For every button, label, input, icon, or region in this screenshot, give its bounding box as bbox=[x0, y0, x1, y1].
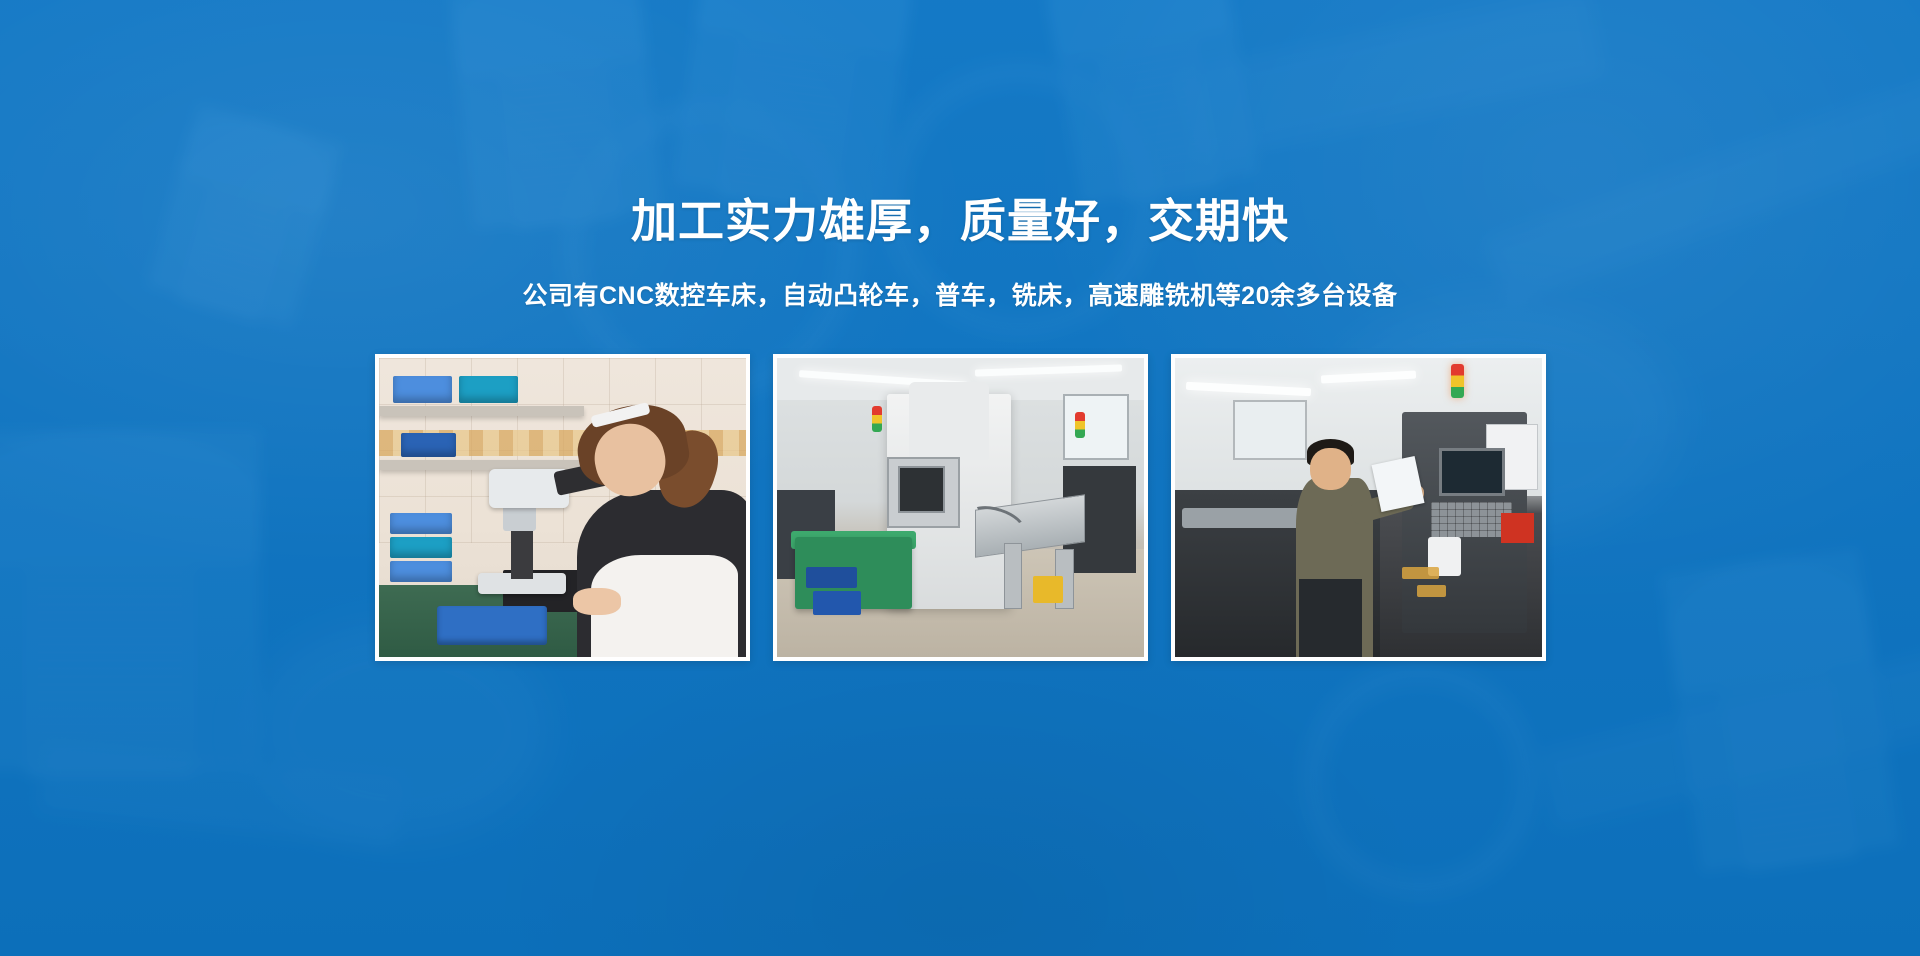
gallery-photo-operator-at-cnc-console[interactable] bbox=[1171, 354, 1546, 661]
photo-scene bbox=[777, 358, 1144, 657]
ghost-shaft-icon bbox=[1484, 63, 1920, 307]
gallery-photo-cnc-milling-workshop[interactable] bbox=[773, 354, 1148, 661]
ghost-bolt-icon bbox=[1041, 0, 1260, 204]
ghost-shaft-icon bbox=[1175, 0, 1605, 163]
promo-banner: 加工实力雄厚，质量好，交期快 公司有CNC数控车床，自动凸轮车，普车，铣床，高速… bbox=[0, 0, 1920, 956]
photo-gallery bbox=[0, 354, 1920, 661]
ghost-shaft-icon bbox=[1537, 650, 1920, 829]
gallery-photo-microscope-inspection[interactable] bbox=[375, 354, 750, 661]
page-title: 加工实力雄厚，质量好，交期快 bbox=[0, 196, 1920, 248]
ghost-ring-icon bbox=[1300, 660, 1540, 900]
photo-scene bbox=[1175, 358, 1542, 657]
ghost-shaft-icon bbox=[37, 741, 402, 848]
page-subtitle: 公司有CNC数控车床，自动凸轮车，普车，铣床，高速雕铣机等20余多台设备 bbox=[0, 280, 1920, 313]
photo-scene bbox=[379, 358, 746, 657]
ghost-bolt-icon bbox=[673, 0, 917, 213]
